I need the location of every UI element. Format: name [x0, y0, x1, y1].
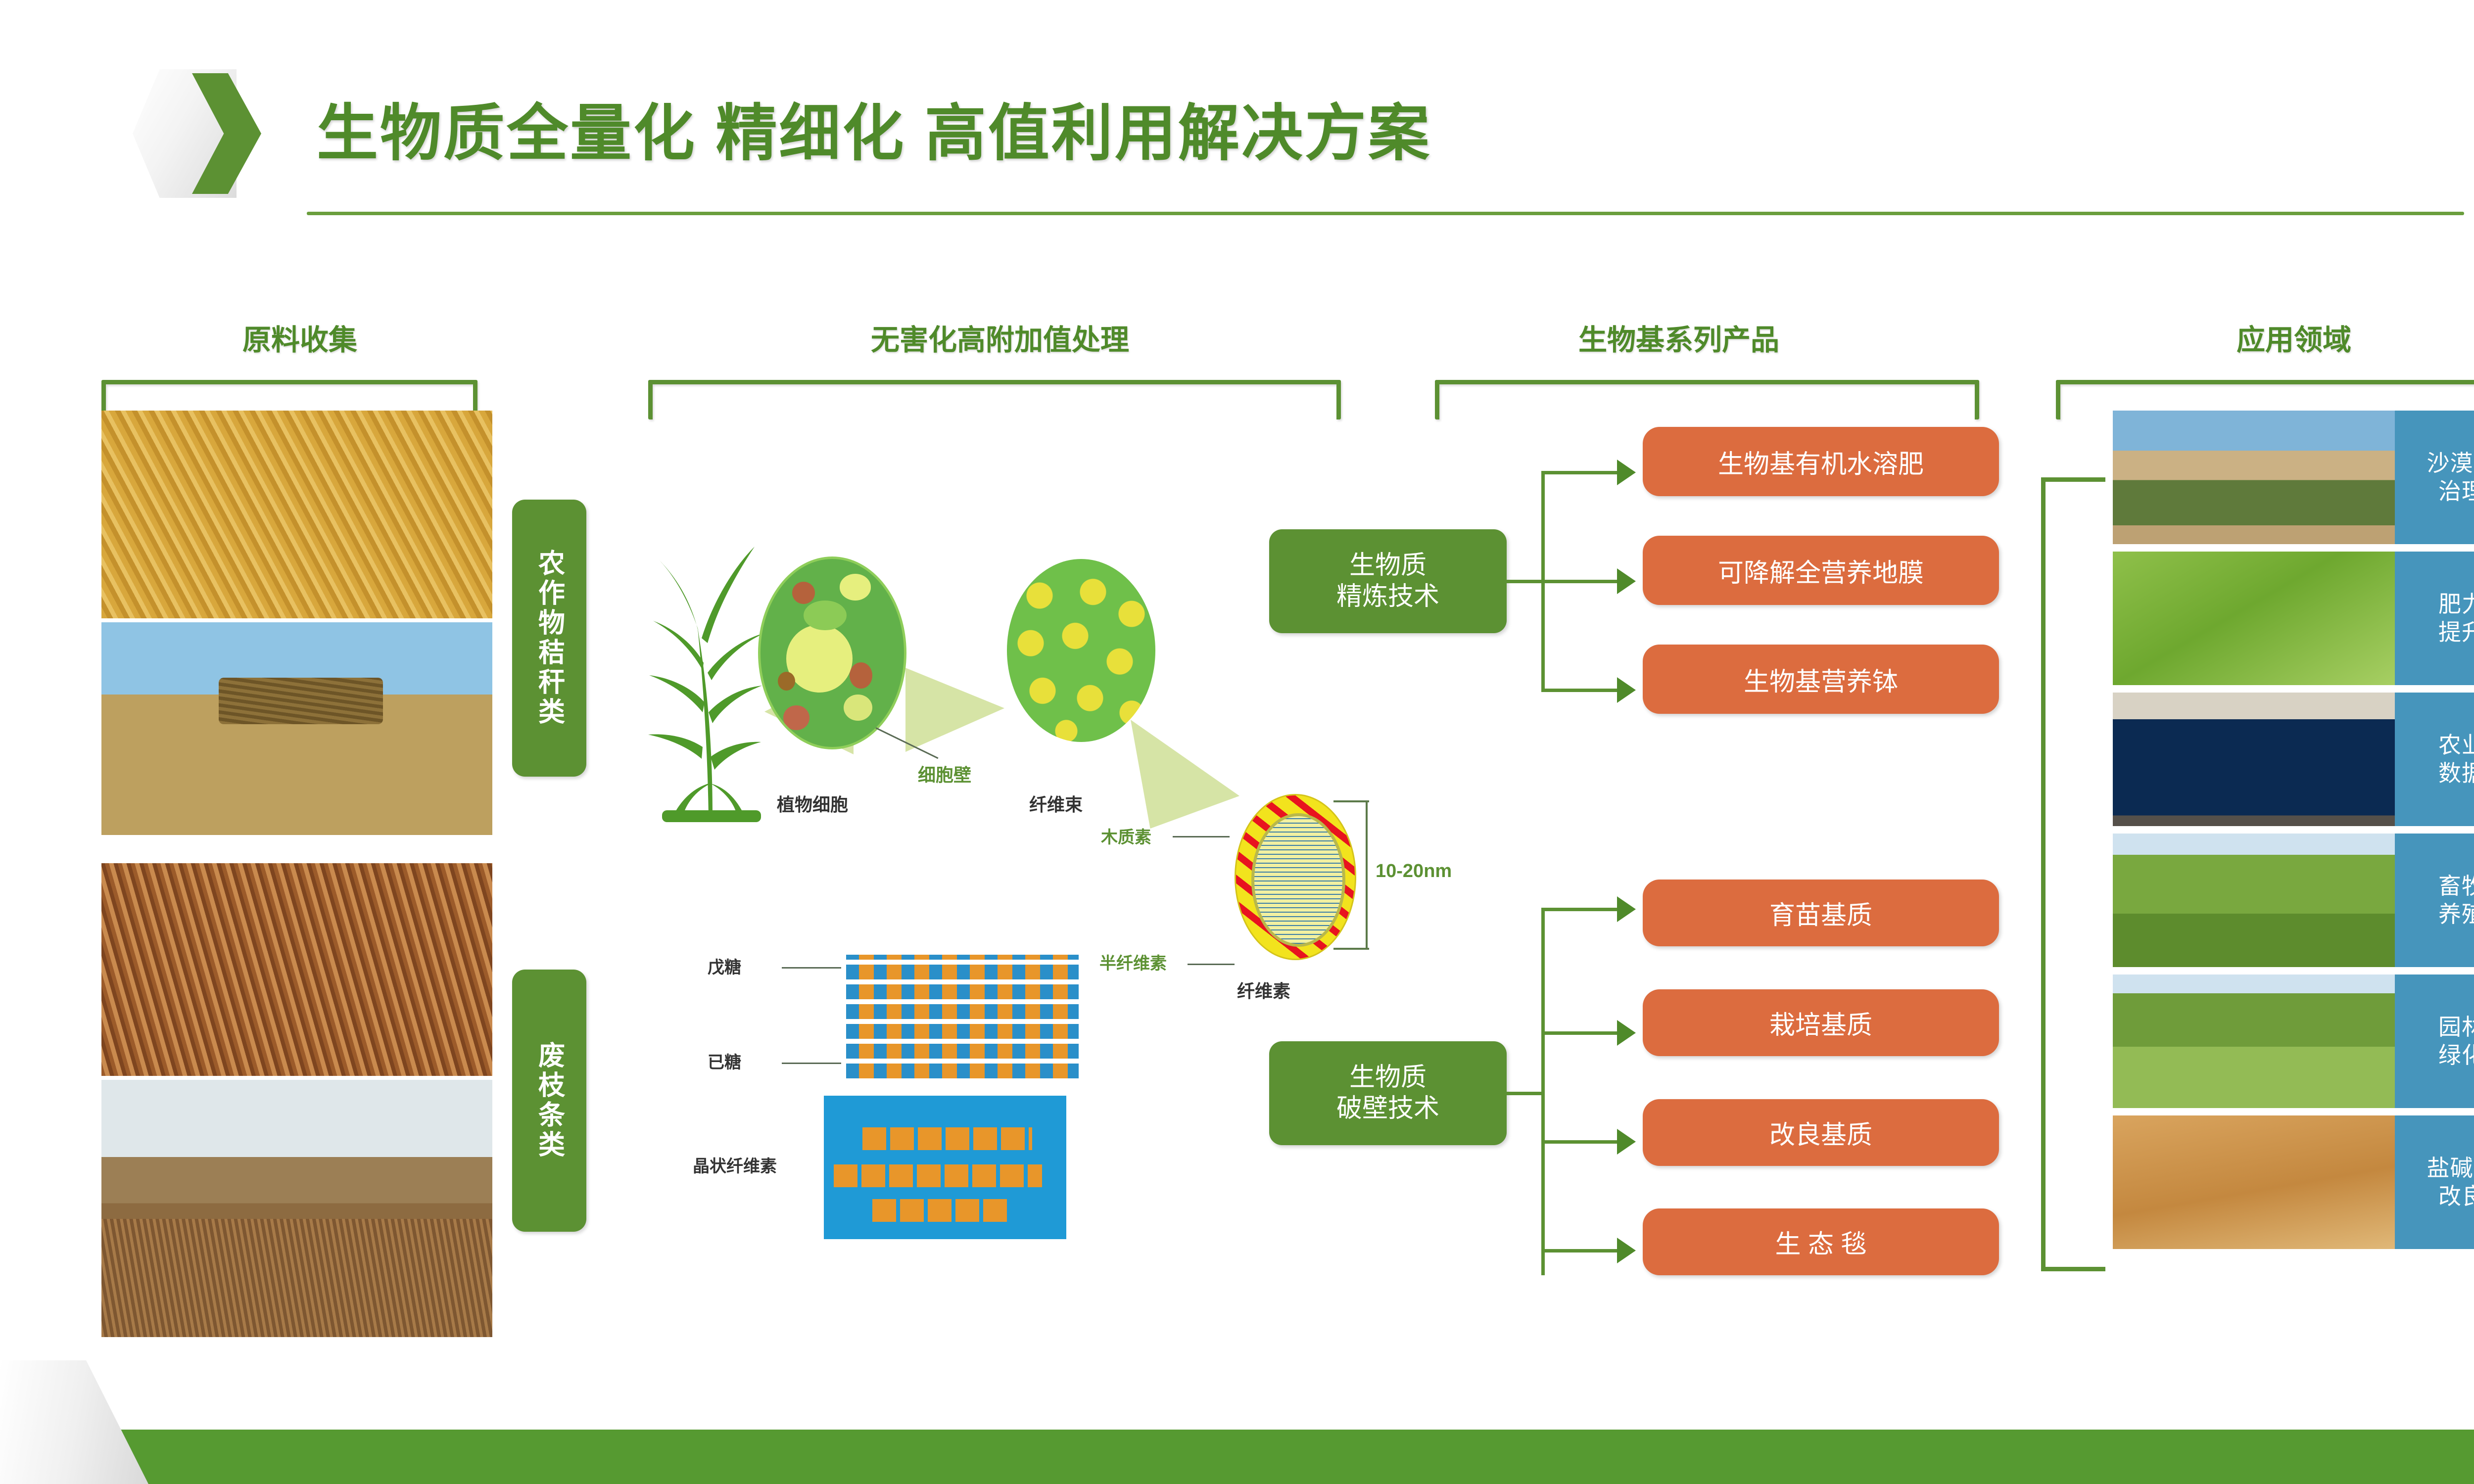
application-label-line-2: 养殖: [2438, 900, 2474, 929]
tech-box-refining[interactable]: 生物质 精炼技术: [1269, 529, 1507, 633]
raw-material-photo: [101, 622, 492, 835]
brand-logo: [133, 69, 256, 198]
application-label: 肥力 提升: [2395, 552, 2474, 685]
product-box[interactable]: 改良基质: [1643, 1099, 1999, 1166]
applications-bracket-spine: [2041, 477, 2046, 1271]
tech-line-2: 精炼技术: [1336, 581, 1439, 612]
cellulose-label: 纤维素: [1237, 977, 1290, 1003]
raw-material-photo: [101, 863, 492, 1076]
application-label-line-1: 沙漠化: [2427, 449, 2474, 478]
magnify-cone: [1131, 720, 1239, 829]
dimension-tick: [1333, 948, 1369, 950]
connector-branch: [1541, 471, 1620, 474]
application-label-line-1: 肥力: [2438, 590, 2474, 619]
application-label-line-2: 提升: [2438, 618, 2474, 647]
connector-branch: [1541, 1140, 1620, 1144]
application-photo: [2113, 693, 2395, 826]
raw-material-photo: [101, 411, 492, 618]
title-divider: [307, 212, 2464, 215]
lignin-label: 木质素: [1101, 824, 1151, 848]
arrow-icon: [1617, 460, 1636, 485]
raw-material-photo: [101, 1080, 492, 1337]
application-label-line-1: 农业: [2438, 731, 2474, 760]
arrow-icon: [1617, 677, 1636, 703]
application-row[interactable]: 沙漠化 治理: [2113, 411, 2474, 544]
dimension-line: [1366, 801, 1368, 950]
application-row[interactable]: 盐碱地 改良: [2113, 1115, 2474, 1249]
hexose-leader-line: [782, 1063, 841, 1064]
tech-line-2: 破壁技术: [1336, 1093, 1439, 1124]
application-photo: [2113, 411, 2395, 544]
application-row[interactable]: 肥力 提升: [2113, 552, 2474, 685]
magnify-cone: [905, 668, 1004, 752]
application-photo: [2113, 974, 2395, 1108]
dimension-label: 10-20nm: [1376, 861, 1452, 882]
cellwall-label: 细胞壁: [918, 761, 971, 787]
application-label: 沙漠化 治理: [2395, 411, 2474, 544]
application-label-line-1: 盐碱地: [2427, 1154, 2474, 1183]
connector-trunk-refining: [1507, 580, 1544, 583]
connector-trunk-cellwall: [1507, 1092, 1544, 1095]
product-box[interactable]: 生 态 毯: [1643, 1208, 1999, 1275]
plant-cell-illustration: [758, 556, 906, 749]
connector-spine-cellwall: [1541, 909, 1545, 1275]
grass-plant-icon: [638, 539, 782, 826]
tech-line-1: 生物质: [1349, 550, 1427, 581]
plant-cell-label: 植物细胞: [777, 790, 848, 816]
product-box[interactable]: 育苗基质: [1643, 880, 1999, 946]
application-label-line-2: 绿化: [2438, 1041, 2474, 1070]
page-title: 生物质全量化 精细化 高值利用解决方案: [317, 83, 1431, 172]
footer-bar: [0, 1430, 2474, 1484]
product-box[interactable]: 栽培基质: [1643, 989, 1999, 1056]
fiber-bundle-illustration: [1007, 559, 1155, 742]
application-label-line-1: 畜牧: [2438, 872, 2474, 901]
application-label-line-2: 改良: [2438, 1182, 2474, 1211]
connector-branch: [1541, 1249, 1620, 1252]
application-label-line-2: 治理: [2438, 477, 2474, 506]
arrow-icon: [1617, 1129, 1636, 1155]
section-header-collection: 原料收集: [242, 317, 357, 358]
bracket-processing: [648, 380, 1341, 419]
crystalline-cellulose-diagram: [824, 1096, 1066, 1239]
fiber-bundle-label: 纤维束: [1029, 790, 1083, 816]
crystalline-cellulose-label: 晶状纤维素: [693, 1153, 777, 1177]
section-header-products: 生物基系列产品: [1578, 317, 1779, 358]
bracket-products: [1435, 380, 1979, 419]
arrow-icon: [1617, 896, 1636, 922]
section-header-processing: 无害化高附加值处理: [871, 317, 1129, 358]
tech-line-1: 生物质: [1349, 1062, 1427, 1093]
hexose-label: 已糖: [708, 1049, 741, 1073]
application-label: 畜牧 养殖: [2395, 834, 2474, 967]
connector-branch: [1541, 689, 1620, 692]
application-photo: [2113, 834, 2395, 967]
pentose-label: 戊糖: [708, 954, 741, 978]
application-row[interactable]: 农业 数据: [2113, 693, 2474, 826]
application-row[interactable]: 园林 绿化: [2113, 974, 2474, 1108]
application-photo: [2113, 552, 2395, 685]
sugar-chain-diagram: [846, 955, 1079, 1078]
product-box[interactable]: 生物基有机水溶肥: [1643, 427, 1999, 496]
arrow-icon: [1617, 568, 1636, 594]
pentose-leader-line: [782, 967, 841, 969]
raw-material-label-waste-branch: 废枝条类: [512, 970, 586, 1232]
section-header-applications: 应用领域: [2236, 317, 2351, 358]
application-row[interactable]: 畜牧 养殖: [2113, 834, 2474, 967]
tech-box-cellwall[interactable]: 生物质 破壁技术: [1269, 1041, 1507, 1145]
application-photo: [2113, 1115, 2395, 1249]
application-label-line-1: 园林: [2438, 1013, 2474, 1042]
application-label: 园林 绿化: [2395, 974, 2474, 1108]
application-label-line-2: 数据: [2438, 759, 2474, 788]
product-box[interactable]: 生物基营养钵: [1643, 645, 1999, 714]
arrow-icon: [1617, 1020, 1636, 1046]
application-label: 盐碱地 改良: [2395, 1115, 2474, 1249]
applications-bracket-top: [2041, 477, 2105, 482]
connector-branch: [1541, 908, 1620, 911]
footer-wedge-decoration: [0, 1360, 148, 1484]
connector-branch: [1541, 1031, 1620, 1035]
dimension-tick: [1333, 800, 1369, 802]
application-label: 农业 数据: [2395, 693, 2474, 826]
raw-material-label-crop-straw: 农作物秸秆类: [512, 500, 586, 777]
arrow-icon: [1617, 1238, 1636, 1263]
applications-bracket-bottom: [2041, 1267, 2105, 1271]
hemicellulose-label: 半纤维素: [1099, 950, 1167, 974]
hemicellulose-leader-line: [1188, 964, 1235, 965]
connector-branch: [1541, 580, 1620, 583]
cellulose-fiber-illustration: [1235, 794, 1356, 960]
lignin-leader-line: [1173, 836, 1230, 837]
product-box[interactable]: 可降解全营养地膜: [1643, 536, 1999, 605]
